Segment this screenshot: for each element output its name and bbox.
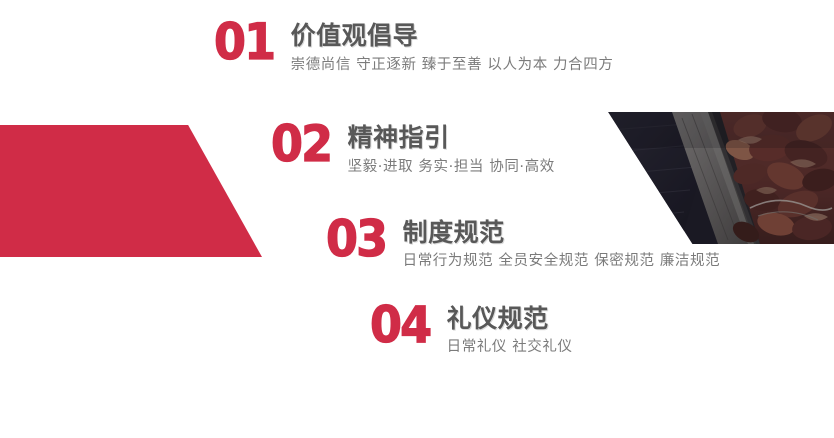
row-number-02: 02 — [271, 121, 331, 167]
row-subtitle-1: 崇德尚信 守正逐新 臻于至善 以人为本 力合四方 — [291, 55, 614, 75]
row-subtitle-3: 日常行为规范 全员安全规范 保密规范 廉洁规范 — [403, 251, 721, 271]
row-subtitle-2: 坚毅·进取 务实·担当 协同·高效 — [348, 157, 555, 177]
row-number-03: 03 — [326, 216, 386, 262]
row-subtitle-4: 日常礼仪 社交礼仪 — [447, 337, 573, 357]
culture-row-3: 03 制度规范 日常行为规范 全员安全规范 保密规范 廉洁规范 — [326, 215, 720, 271]
row-number-01: 01 — [214, 19, 274, 65]
row-number-04: 04 — [370, 302, 430, 348]
row-text-block-4: 礼仪规范 日常礼仪 社交礼仪 — [447, 301, 573, 357]
row-title-3: 制度规范 — [403, 219, 721, 247]
culture-row-4: 04 礼仪规范 日常礼仪 社交礼仪 — [370, 301, 573, 357]
culture-row-2: 02 精神指引 坚毅·进取 务实·担当 协同·高效 — [271, 120, 555, 177]
infographic-canvas: 01 价值观倡导 崇德尚信 守正逐新 臻于至善 以人为本 力合四方 02 精神指… — [0, 0, 834, 438]
row-text-block-2: 精神指引 坚毅·进取 务实·担当 协同·高效 — [348, 120, 555, 177]
row-title-2: 精神指引 — [348, 124, 555, 152]
row-text-block-3: 制度规范 日常行为规范 全员安全规范 保密规范 廉洁规范 — [403, 215, 721, 271]
row-title-4: 礼仪规范 — [447, 305, 573, 333]
red-parallelogram-decoration — [0, 125, 262, 257]
row-text-block-1: 价值观倡导 崇德尚信 守正逐新 臻于至善 以人为本 力合四方 — [291, 18, 614, 75]
row-title-1: 价值观倡导 — [291, 22, 614, 50]
culture-row-1: 01 价值观倡导 崇德尚信 守正逐新 臻于至善 以人为本 力合四方 — [214, 18, 613, 75]
